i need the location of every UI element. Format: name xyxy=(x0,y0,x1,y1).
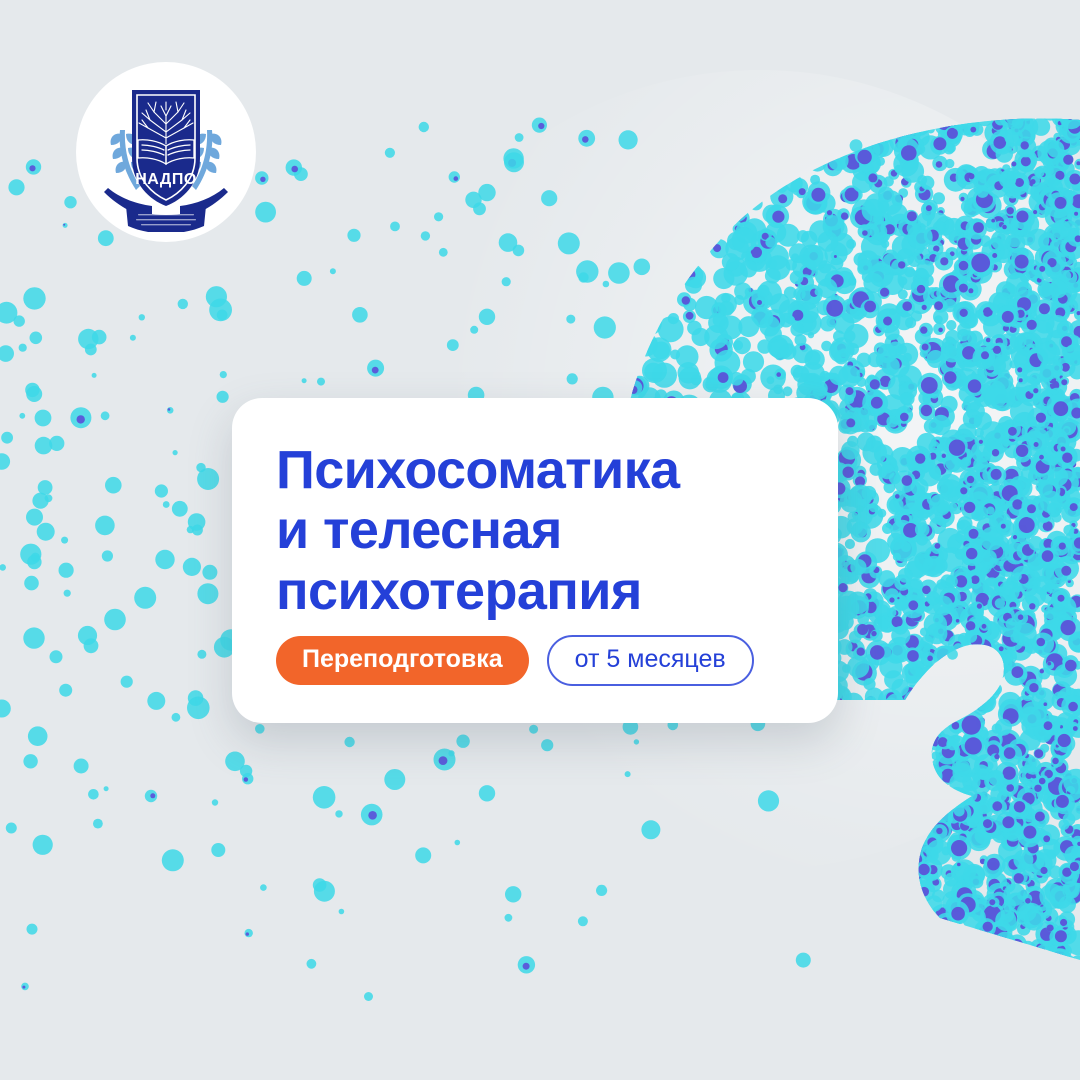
program-type-badge[interactable]: Переподготовка xyxy=(276,636,529,685)
course-card: Психосоматика и телесная психотерапия Пе… xyxy=(232,398,838,723)
badge-row: Переподготовка от 5 месяцев xyxy=(276,635,754,686)
nadpo-logo[interactable]: НАДПО xyxy=(76,62,256,242)
poster-canvas: НАДПО Психосоматика и телесная психотера… xyxy=(0,0,1080,1080)
logo-acronym: НАДПО xyxy=(135,171,197,188)
duration-badge[interactable]: от 5 месяцев xyxy=(547,635,754,686)
page-title: Психосоматика и телесная психотерапия xyxy=(276,440,794,621)
